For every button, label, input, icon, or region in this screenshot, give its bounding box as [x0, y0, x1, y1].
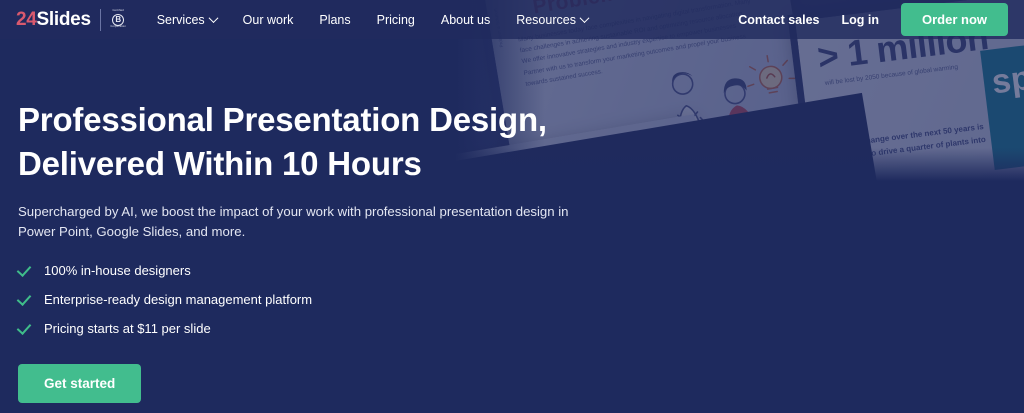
page-title: Professional Presentation Design, Delive… [18, 98, 638, 186]
nav-item-our-work-label: Our work [243, 13, 294, 27]
logo-divider [100, 9, 101, 31]
feature-item: Enterprise-ready design management platf… [18, 292, 638, 307]
header-actions: Contact sales Log in Order now [738, 3, 1008, 36]
nav-item-pricing[interactable]: Pricing [377, 13, 415, 27]
bcorp-letter: B [112, 14, 124, 26]
nav-item-plans[interactable]: Plans [319, 13, 350, 27]
check-icon [18, 292, 32, 306]
bcorp-top-label: Certified [112, 10, 123, 13]
site-header: 24Slides Certified B Corporation Service… [0, 0, 1024, 39]
bcorp-bottom-label: Corporation [110, 26, 126, 29]
chevron-down-icon [208, 13, 218, 23]
logo[interactable]: 24Slides Certified B Corporation [16, 8, 127, 31]
hero-content: Professional Presentation Design, Delive… [18, 98, 638, 403]
nav-item-services[interactable]: Services [157, 13, 217, 27]
landing-page-hero: Problem & Solution Many businesses today… [0, 0, 1024, 413]
logo-name: Slides [37, 9, 91, 30]
feature-item: Pricing starts at $11 per slide [18, 321, 638, 336]
logo-text: 24Slides [16, 10, 91, 29]
check-icon [18, 321, 32, 335]
check-icon [18, 263, 32, 277]
nav-item-our-work[interactable]: Our work [243, 13, 294, 27]
main-navigation: Services Our work Plans Pricing About us… [157, 13, 588, 27]
nav-item-resources[interactable]: Resources [516, 13, 588, 27]
hero-subtitle: Supercharged by AI, we boost the impact … [18, 202, 578, 243]
nav-item-plans-label: Plans [319, 13, 350, 27]
bcorp-certified-badge-icon: Certified B Corporation [110, 8, 127, 31]
chevron-down-icon [580, 13, 590, 23]
feature-label: Enterprise-ready design management platf… [44, 292, 312, 307]
nav-item-services-label: Services [157, 13, 205, 27]
hero-title-line-2: Delivered Within 10 Hours [18, 142, 638, 186]
feature-list: 100% in-house designers Enterprise-ready… [18, 263, 638, 336]
nav-item-resources-label: Resources [516, 13, 576, 27]
log-in-link[interactable]: Log in [841, 13, 879, 27]
get-started-button[interactable]: Get started [18, 364, 141, 403]
feature-item: 100% in-house designers [18, 263, 638, 278]
nav-item-about-us-label: About us [441, 13, 490, 27]
nav-item-about-us[interactable]: About us [441, 13, 490, 27]
order-now-button[interactable]: Order now [901, 3, 1008, 36]
hero-title-line-1: Professional Presentation Design, [18, 98, 638, 142]
logo-prefix: 24 [16, 9, 37, 30]
feature-label: 100% in-house designers [44, 263, 191, 278]
nav-item-pricing-label: Pricing [377, 13, 415, 27]
contact-sales-link[interactable]: Contact sales [738, 13, 819, 27]
feature-label: Pricing starts at $11 per slide [44, 321, 211, 336]
